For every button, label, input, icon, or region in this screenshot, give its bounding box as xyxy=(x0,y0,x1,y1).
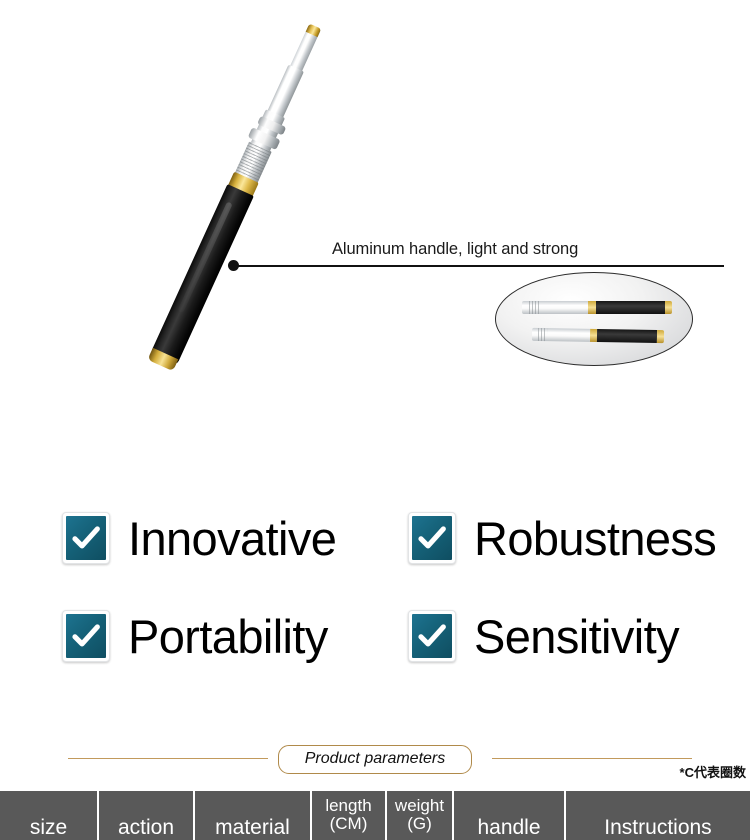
callout-leader-line xyxy=(237,265,724,267)
inset-rod-lower xyxy=(532,328,664,343)
table-header-instructions: Instructions xyxy=(566,791,750,840)
feature-checkbox xyxy=(408,512,456,564)
inset-detail-photo xyxy=(495,272,693,366)
table-header-label: size xyxy=(30,817,67,839)
table-header-label: handle xyxy=(477,817,540,839)
feature-label: Innovative xyxy=(128,515,336,562)
parameter-table-header-row: size action material length (CM) weight … xyxy=(0,791,750,840)
table-header-action: action xyxy=(99,791,193,840)
inset-rod-upper xyxy=(522,301,672,314)
table-header-material: material xyxy=(195,791,310,840)
checkmark-icon xyxy=(69,619,103,653)
checkmark-icon xyxy=(69,521,103,555)
table-header-handle: handle xyxy=(454,791,564,840)
product-parameters-banner: Product parameters xyxy=(0,742,750,776)
banner-rule-right xyxy=(492,758,692,759)
rod-aluminum-handle xyxy=(150,184,254,365)
feature-item-innovative: Innovative xyxy=(62,512,336,564)
callout-label: Aluminum handle, light and strong xyxy=(332,240,578,259)
feature-item-sensitivity: Sensitivity xyxy=(408,610,679,662)
inset-rod-gold-band-right xyxy=(657,330,664,343)
table-header-label: weight xyxy=(395,797,444,815)
telescopic-fishing-rod-illustration xyxy=(124,15,339,401)
feature-label: Robustness xyxy=(474,515,716,562)
table-header-label: action xyxy=(118,817,174,839)
banner-rule-left xyxy=(68,758,268,759)
product-detail-page: Aluminum handle, light and strong xyxy=(0,0,750,840)
inset-rod-handle xyxy=(597,329,658,343)
table-header-size: size xyxy=(0,791,97,840)
parameter-footnote: *C代表圈数 xyxy=(680,762,746,781)
checkmark-icon xyxy=(415,619,449,653)
table-header-label: material xyxy=(215,817,290,839)
table-header-unit: (CM) xyxy=(325,815,371,833)
inset-rod-gold-band-right xyxy=(665,301,673,314)
feature-label: Portability xyxy=(128,613,328,660)
inset-rod-chrome-section xyxy=(522,301,588,314)
feature-item-robustness: Robustness xyxy=(408,512,716,564)
table-header-unit: (G) xyxy=(395,815,444,833)
checkmark-icon xyxy=(415,521,449,555)
inset-rod-gold-band-left xyxy=(588,301,596,314)
inset-rod-chrome-section xyxy=(532,328,590,342)
table-header-weight: weight (G) xyxy=(387,791,452,840)
feature-checklist: Innovative Robustness Portabilit xyxy=(0,498,750,710)
table-header-label: Instructions xyxy=(604,817,711,839)
feature-item-portability: Portability xyxy=(62,610,328,662)
table-header-length: length (CM) xyxy=(312,791,385,840)
feature-checkbox xyxy=(408,610,456,662)
feature-checkbox xyxy=(62,512,110,564)
feature-checkbox xyxy=(62,610,110,662)
inset-rod-handle xyxy=(596,301,665,314)
table-header-label: length xyxy=(325,797,371,815)
feature-label: Sensitivity xyxy=(474,613,679,660)
hero-product-photo: Aluminum handle, light and strong xyxy=(0,0,750,500)
section-title: Product parameters xyxy=(278,745,473,774)
